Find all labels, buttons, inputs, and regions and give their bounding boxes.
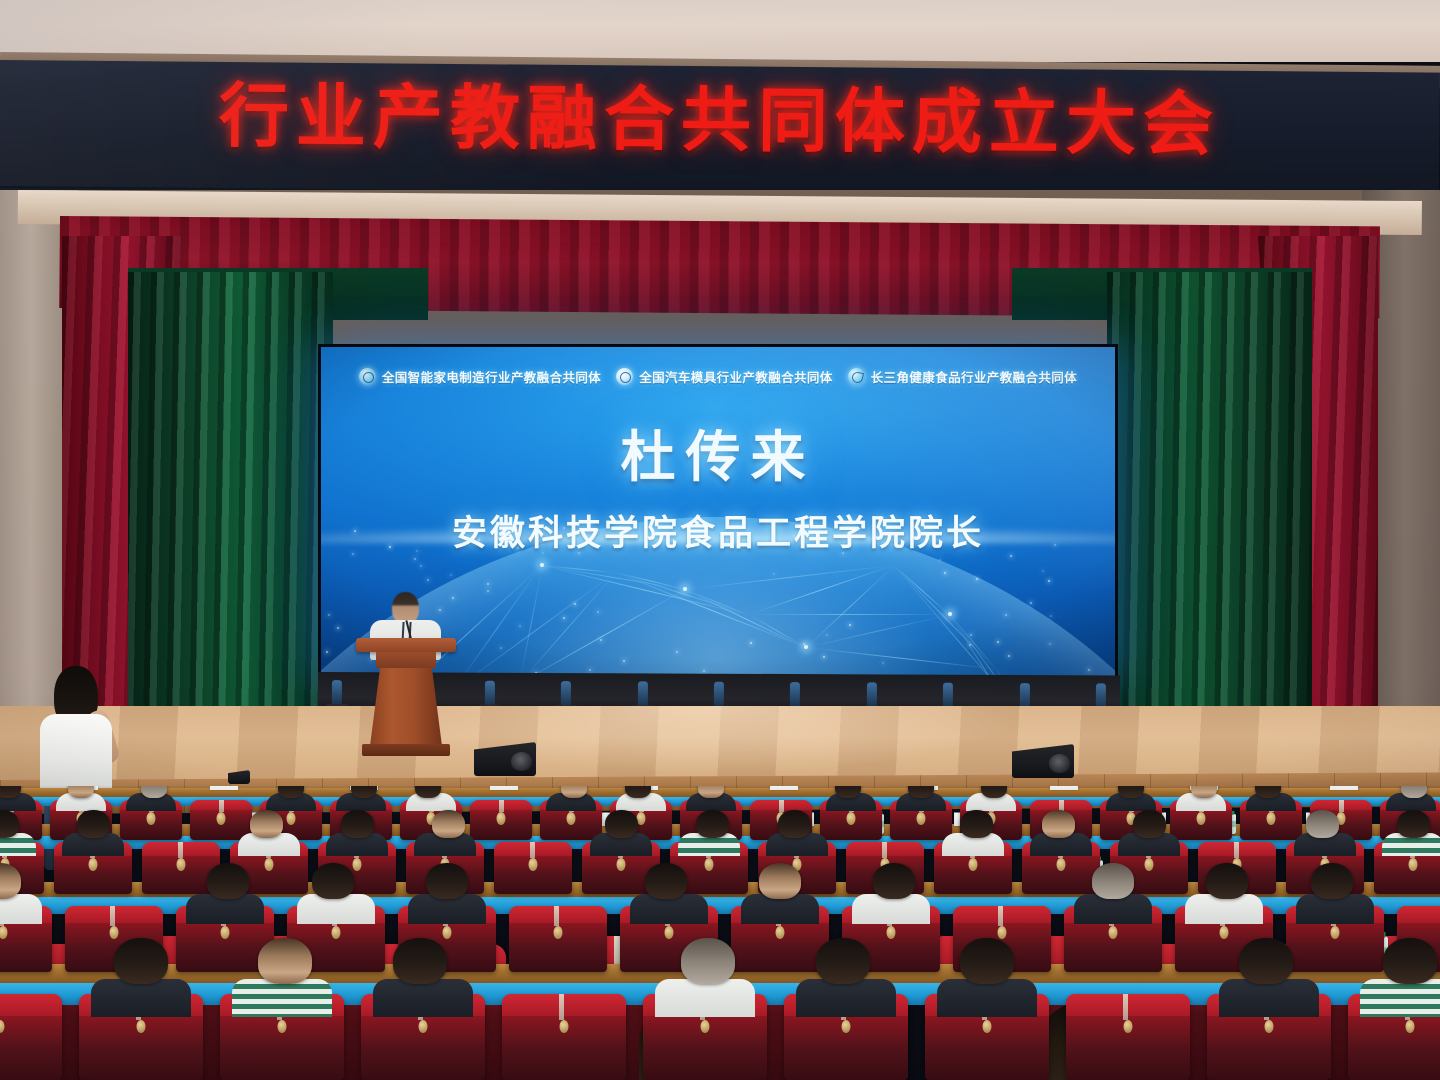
audience-member-head [960,810,993,838]
audience-seat [0,994,62,1080]
seat-strip [998,906,1003,926]
seat-emblem-icon [110,926,119,939]
seat-emblem-icon [637,812,646,825]
seat-emblem-icon [983,1020,992,1033]
audience-member-head [1383,938,1437,984]
seat-strip [554,906,559,926]
delegate-name-card [210,786,238,790]
seat-emblem-icon [1057,858,1066,871]
seat-emblem-icon [560,1020,569,1033]
seat-strip [499,800,504,812]
seat-emblem-icon [278,1020,287,1033]
green-curtain-left [128,272,333,722]
audience-member-head [1118,786,1144,798]
audience-member-shoulders [232,979,331,1018]
audience-seat [190,800,252,840]
seat-emblem-icon [567,812,576,825]
audience-member-head [250,810,283,838]
seat-strip [1234,842,1239,858]
uplight-body [943,683,953,707]
seat-emblem-icon [1265,1020,1274,1033]
seat-emblem-icon [1145,858,1154,871]
audience-member-shoulders [373,979,472,1018]
audience-member-head [873,863,915,899]
seat-strip [1339,800,1344,812]
seat-strip [559,994,564,1020]
seat-emblem-icon [917,812,926,825]
audience-member-head [426,863,468,899]
ceiling [0,0,1440,62]
audience-seat [470,800,532,840]
lectern [362,638,450,760]
audience-member-head [415,786,441,798]
seat-emblem-icon [529,858,538,871]
audience-seat [494,842,572,894]
seat-emblem-icon [847,812,856,825]
seat-strip [110,906,115,926]
audience-seat [1066,994,1190,1080]
seat-strip [882,842,887,858]
seat-emblem-icon [89,858,98,871]
audience-member-head [605,810,638,838]
seat-emblem-icon [497,812,506,825]
audience-member-head [778,810,811,838]
seat-emblem-icon [419,1020,428,1033]
seat-emblem-icon [842,1020,851,1033]
seat-emblem-icon [265,858,274,871]
seat-emblem-icon [998,926,1007,939]
audience-seat [502,994,626,1080]
audience-member-head [68,786,94,798]
audience-member-head [1191,786,1217,798]
ceiling-panel-seam [0,0,1440,62]
curtain-folds [128,272,333,722]
audience-member-head [960,938,1014,984]
audience-member-head [141,786,167,798]
audience-member-shoulders [1219,979,1318,1018]
box-face [228,770,250,784]
green-curtain-right [1107,272,1312,722]
audience-member-head [1255,786,1281,798]
seat-emblem-icon [1197,812,1206,825]
seat-emblem-icon [177,858,186,871]
audience-member-head [696,810,729,838]
seat-emblem-icon [0,1020,5,1033]
uplight-body [561,681,571,705]
seat-emblem-icon [776,926,785,939]
stage-monitor-left [474,742,536,776]
seat-emblem-icon [1409,858,1418,871]
uplight-body [867,682,877,706]
audience-member-head [561,786,587,798]
audience-member-head [1133,810,1166,838]
audience-member-head [625,786,651,798]
seat-strip [219,800,224,812]
lectern-body [370,668,442,746]
stage-banner-board: 行业产教融合共同体成立大会 [0,60,1440,205]
audience-member-head [258,938,312,984]
uplight-body [714,682,724,706]
monitor-grille [511,752,532,770]
uplight-body [332,680,342,704]
seat-emblem-icon [969,858,978,871]
audience-member-shoulders [937,979,1036,1018]
audience-member-head [816,938,870,984]
audience-member-shoulders [1360,979,1440,1018]
audience-seat [509,906,607,972]
uplight-body [637,681,647,705]
seat-emblem-icon [887,926,896,939]
audience-member-head [341,810,374,838]
uplight-body [1096,683,1106,707]
seat-emblem-icon [0,926,8,939]
audience-member-head [908,786,934,798]
seat-emblem-icon [1220,926,1229,939]
seat-emblem-icon [554,926,563,939]
audience-member-head [432,810,465,838]
delegate-name-card [490,786,518,790]
auditorium-photo: 行业产教融合共同体成立大会 全国智能家电制造行业产教融合共同体 全国汽车模具 [0,0,1440,1080]
audience-member-head [351,786,377,798]
audience-member-head [1306,810,1339,838]
audience-member-head [835,786,861,798]
audience-member-head [645,863,687,899]
audience-member-head [1206,863,1248,899]
audience-member-head [1239,938,1293,984]
seat-emblem-icon [137,1020,146,1033]
lectern-base [362,744,450,756]
uplight-body [485,681,495,705]
audience-member-head [312,863,354,899]
seat-strip [779,800,784,812]
seat-emblem-icon [287,812,296,825]
seat-emblem-icon [332,926,341,939]
lectern-neck [376,652,436,668]
uplight-body [790,682,800,706]
audience-member-head [393,938,447,984]
seat-emblem-icon [1267,812,1276,825]
seat-cap [0,994,62,1016]
stage-floor-box [228,770,250,784]
audience-member-shoulders [796,979,895,1018]
audience-member-shoulders [655,979,754,1018]
audience-member-head [1401,786,1427,798]
delegate-name-card [1330,786,1358,790]
seat-emblem-icon [443,926,452,939]
seat-emblem-icon [705,858,714,871]
curtain-folds [1107,272,1312,722]
seat-emblem-icon [147,812,156,825]
audience-member-head [1311,863,1353,899]
audience-member-head [207,863,249,899]
seat-emblem-icon [701,1020,710,1033]
seat-emblem-icon [1124,1020,1133,1033]
lectern-top [356,638,456,652]
uplight-body [1019,683,1029,707]
audience-member-head [278,786,304,798]
seat-strip [530,842,535,858]
stage-monitor-right [1012,744,1074,778]
seat-emblem-icon [217,812,226,825]
seat-emblem-icon [353,858,362,871]
audience-member-head [698,786,724,798]
audience-member-shoulders [91,979,190,1018]
audience-member-head [1397,810,1430,838]
seat-emblem-icon [221,926,230,939]
delegate-name-card [770,786,798,790]
monitor-grille [1049,754,1070,772]
seat-strip [1123,994,1128,1020]
seat-emblem-icon [617,858,626,871]
audience-member-head [77,810,110,838]
seat-emblem-icon [1331,926,1340,939]
audience-member-head [981,786,1007,798]
photographer-top [40,714,112,796]
audience-member-head [759,863,801,899]
audience-member-head [1092,863,1134,899]
seat-strip [178,842,183,858]
audience-member-head [114,938,168,984]
seat-emblem-icon [1406,1020,1415,1033]
seat-cap [1397,906,1440,923]
delegate-name-card [1050,786,1078,790]
seat-emblem-icon [1109,926,1118,939]
banner-title: 行业产教融合共同体成立大会 [0,74,1440,167]
audience-member-head [1042,810,1075,838]
audience-member-head [681,938,735,984]
seat-emblem-icon [665,926,674,939]
